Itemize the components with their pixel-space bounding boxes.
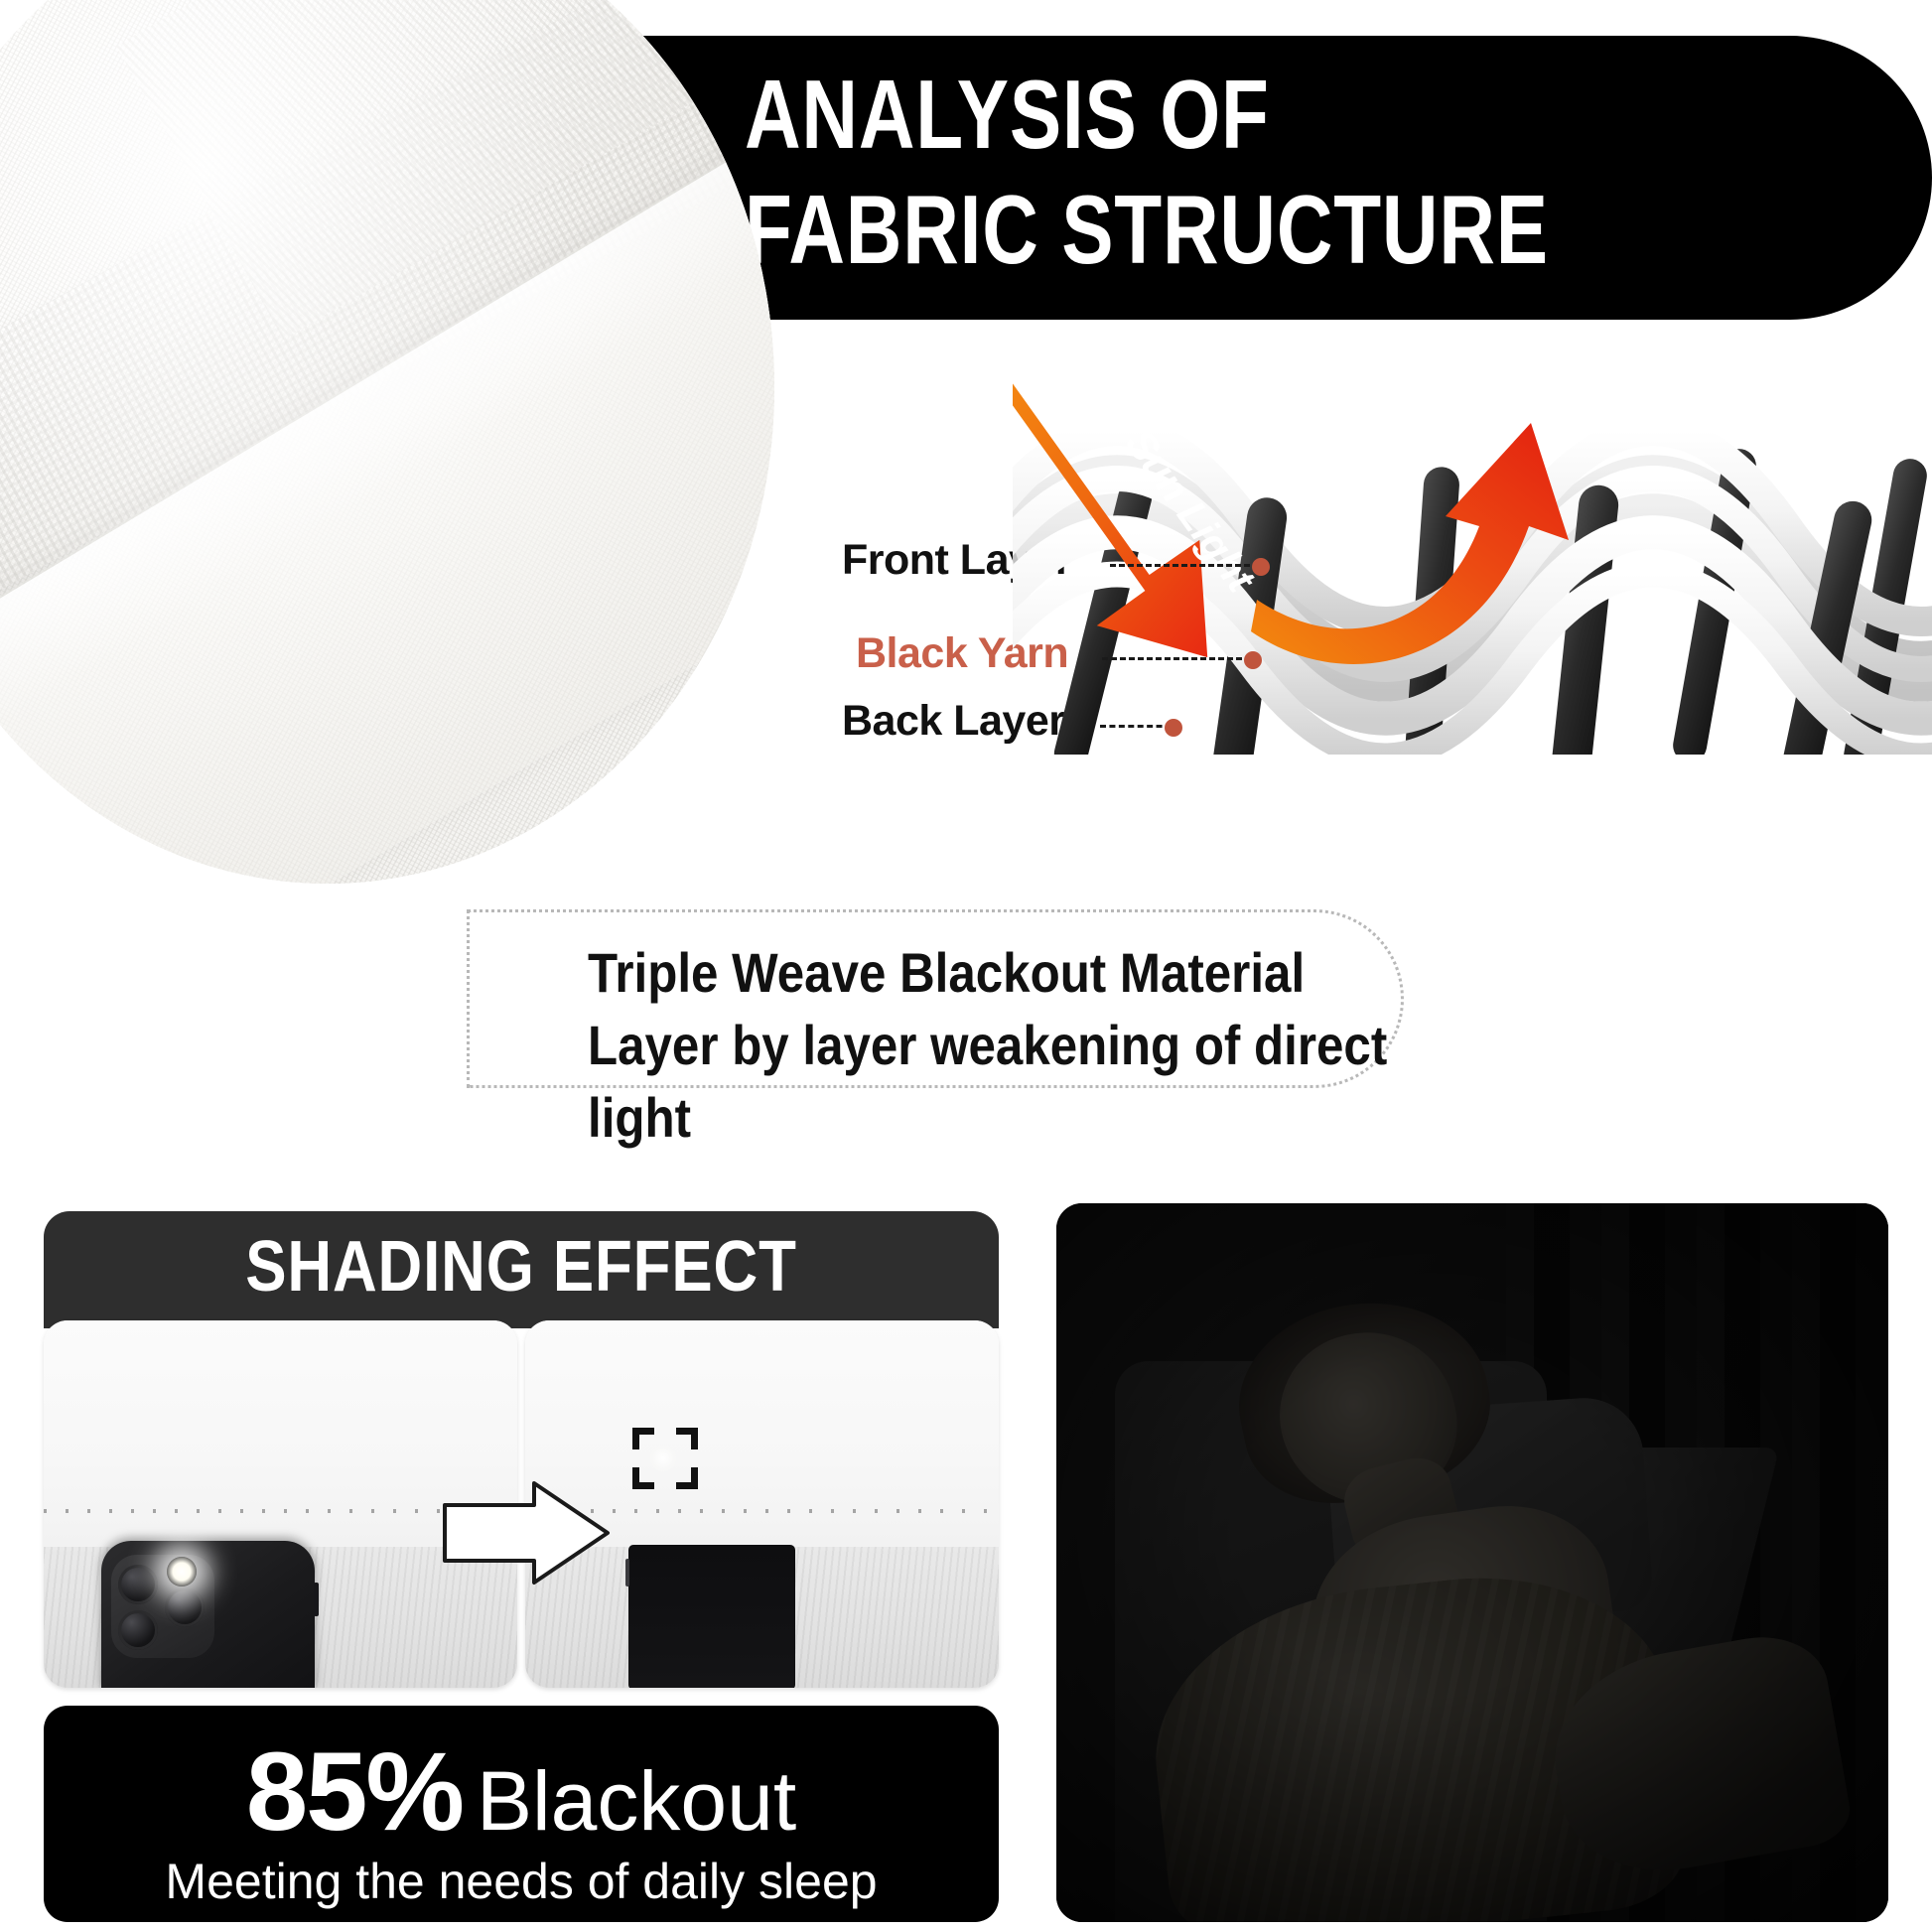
camera-lens-icon bbox=[118, 1610, 158, 1650]
blackout-subtitle: Meeting the needs of daily sleep bbox=[44, 1853, 999, 1910]
shading-effect-title: SHADING EFFECT bbox=[110, 1231, 931, 1303]
leader-line-back-layer bbox=[1100, 725, 1172, 728]
blackout-stat-banner: 85%Blackout Meeting the needs of daily s… bbox=[44, 1706, 999, 1922]
leader-line-black-yarn bbox=[1102, 657, 1251, 660]
comparison-arrow-icon bbox=[439, 1477, 614, 1588]
focus-bracket-icon bbox=[632, 1428, 698, 1489]
shading-effect-section: SHADING EFFECT bbox=[0, 1142, 1932, 1932]
fabric-macro-photo bbox=[0, 0, 774, 884]
blackout-word: Blackout bbox=[477, 1754, 796, 1848]
infographic-page: ANALYSIS OF FABRIC STRUCTURE bbox=[0, 0, 1932, 1932]
phone-side-button bbox=[314, 1583, 319, 1616]
fabric-structure-section: ANALYSIS OF FABRIC STRUCTURE bbox=[0, 0, 1932, 1102]
leader-dot bbox=[1252, 558, 1270, 576]
shading-effect-banner: SHADING EFFECT bbox=[44, 1211, 999, 1328]
sleeping-woman-photo bbox=[1056, 1203, 1888, 1922]
blackout-headline: 85%Blackout bbox=[44, 1727, 999, 1856]
leader-dot bbox=[1244, 651, 1262, 669]
page-title: ANALYSIS OF FABRIC STRUCTURE bbox=[745, 58, 1666, 287]
leader-dot bbox=[1165, 719, 1182, 737]
leader-line-front-layer bbox=[1110, 564, 1259, 567]
phone-device bbox=[101, 1541, 315, 1688]
fabric-sheen bbox=[0, 0, 774, 884]
blackout-percent: 85% bbox=[246, 1729, 463, 1854]
flashlight-icon bbox=[167, 1557, 197, 1587]
camera-lens-icon bbox=[165, 1587, 205, 1627]
weave-diagram-svg: Sun Light bbox=[1013, 328, 1932, 755]
phone-device-dimmed bbox=[628, 1545, 795, 1688]
camera-lens-icon bbox=[118, 1565, 158, 1604]
weave-diagram: Sun Light bbox=[1013, 328, 1932, 755]
phone-edge-highlight bbox=[625, 1559, 629, 1587]
photo-darkening-overlay bbox=[1056, 1203, 1888, 1922]
fabric-caption: Triple Weave Blackout Material Layer by … bbox=[588, 937, 1461, 1154]
camera-module bbox=[111, 1555, 214, 1658]
shading-effect-card: SHADING EFFECT bbox=[44, 1211, 999, 1688]
